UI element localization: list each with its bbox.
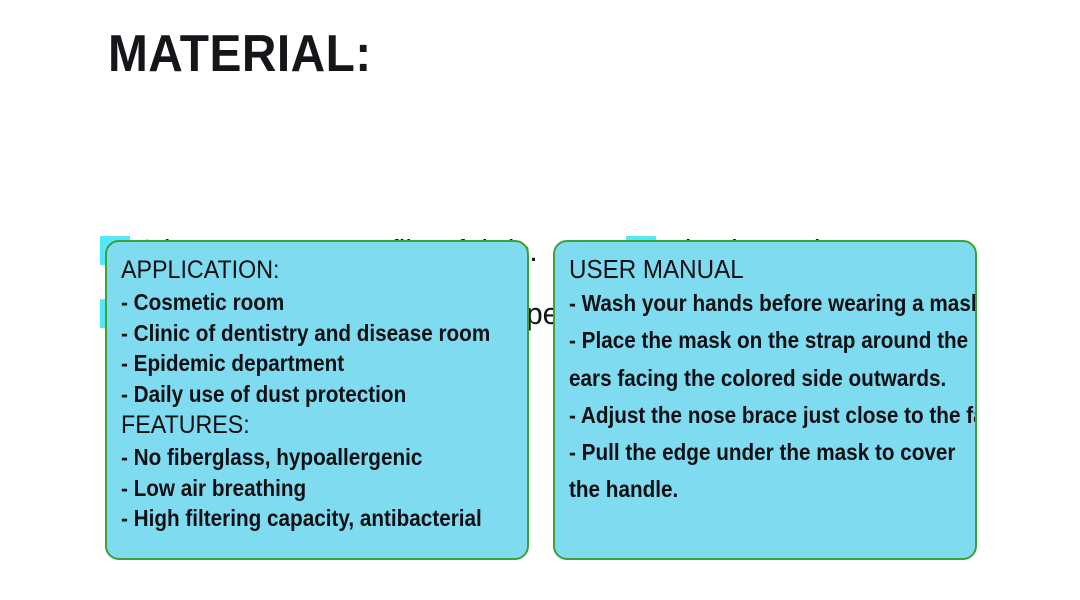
list-item: - Daily use of dust protection	[121, 379, 486, 410]
list-item: - No fiberglass, hypoallergenic	[121, 442, 486, 473]
list-item: - Epidemic department	[121, 348, 486, 379]
page-title: MATERIAL:	[108, 28, 372, 80]
list-item: - Place the mask on the strap around the	[569, 322, 934, 359]
material-feature-list: 2 layer non-woven fiber fabric. 1 layer …	[0, 115, 1080, 235]
list-item: ears facing the colored side outwards.	[569, 360, 934, 397]
list-item: - Low air breathing	[121, 473, 486, 504]
features-heading: FEATURES:	[121, 409, 499, 442]
user-manual-heading: USER MANUAL	[569, 254, 947, 285]
list-item: - Clinic of dentistry and disease room	[121, 318, 486, 349]
list-item: - Pull the edge under the mask to cover	[569, 434, 934, 471]
list-item: - Wash your hands before wearing a mask	[569, 285, 934, 322]
list-item: - Cosmetic room	[121, 287, 486, 318]
application-panel: APPLICATION: - Cosmetic room - Clinic of…	[105, 240, 529, 560]
list-item: - High filtering capacity, antibacterial	[121, 503, 486, 534]
list-item: - Adjust the nose brace just close to th…	[569, 397, 934, 434]
product-info-sheet: MATERIAL: 2 layer non-woven fiber fabric…	[0, 0, 1080, 600]
application-panel-content: APPLICATION: - Cosmetic room - Clinic of…	[107, 242, 527, 534]
application-heading: APPLICATION:	[121, 254, 499, 287]
user-manual-panel-content: USER MANUAL - Wash your hands before wea…	[555, 242, 975, 509]
user-manual-panel: USER MANUAL - Wash your hands before wea…	[553, 240, 977, 560]
list-item: the handle.	[569, 471, 934, 508]
